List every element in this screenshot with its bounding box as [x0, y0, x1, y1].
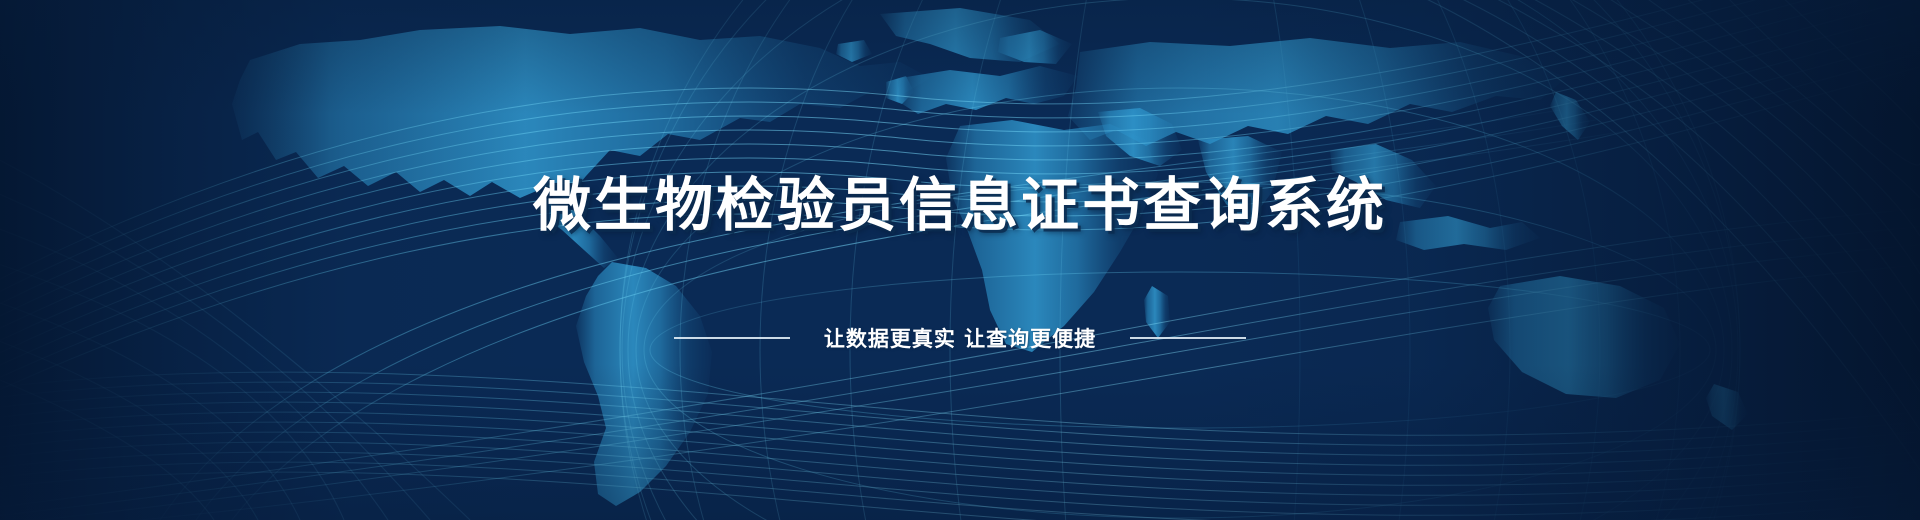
page-subtitle: 让数据更真实 让查询更便捷 — [824, 323, 1096, 353]
left-rule-divider — [674, 337, 790, 339]
banner-content: 微生物检验员信息证书查询系统 让数据更真实 让查询更便捷 — [0, 0, 1920, 520]
hero-banner: 微生物检验员信息证书查询系统 让数据更真实 让查询更便捷 — [0, 0, 1920, 520]
right-rule-divider — [1130, 337, 1246, 339]
page-title: 微生物检验员信息证书查询系统 — [533, 176, 1387, 234]
subtitle-row: 让数据更真实 让查询更便捷 — [674, 323, 1246, 353]
